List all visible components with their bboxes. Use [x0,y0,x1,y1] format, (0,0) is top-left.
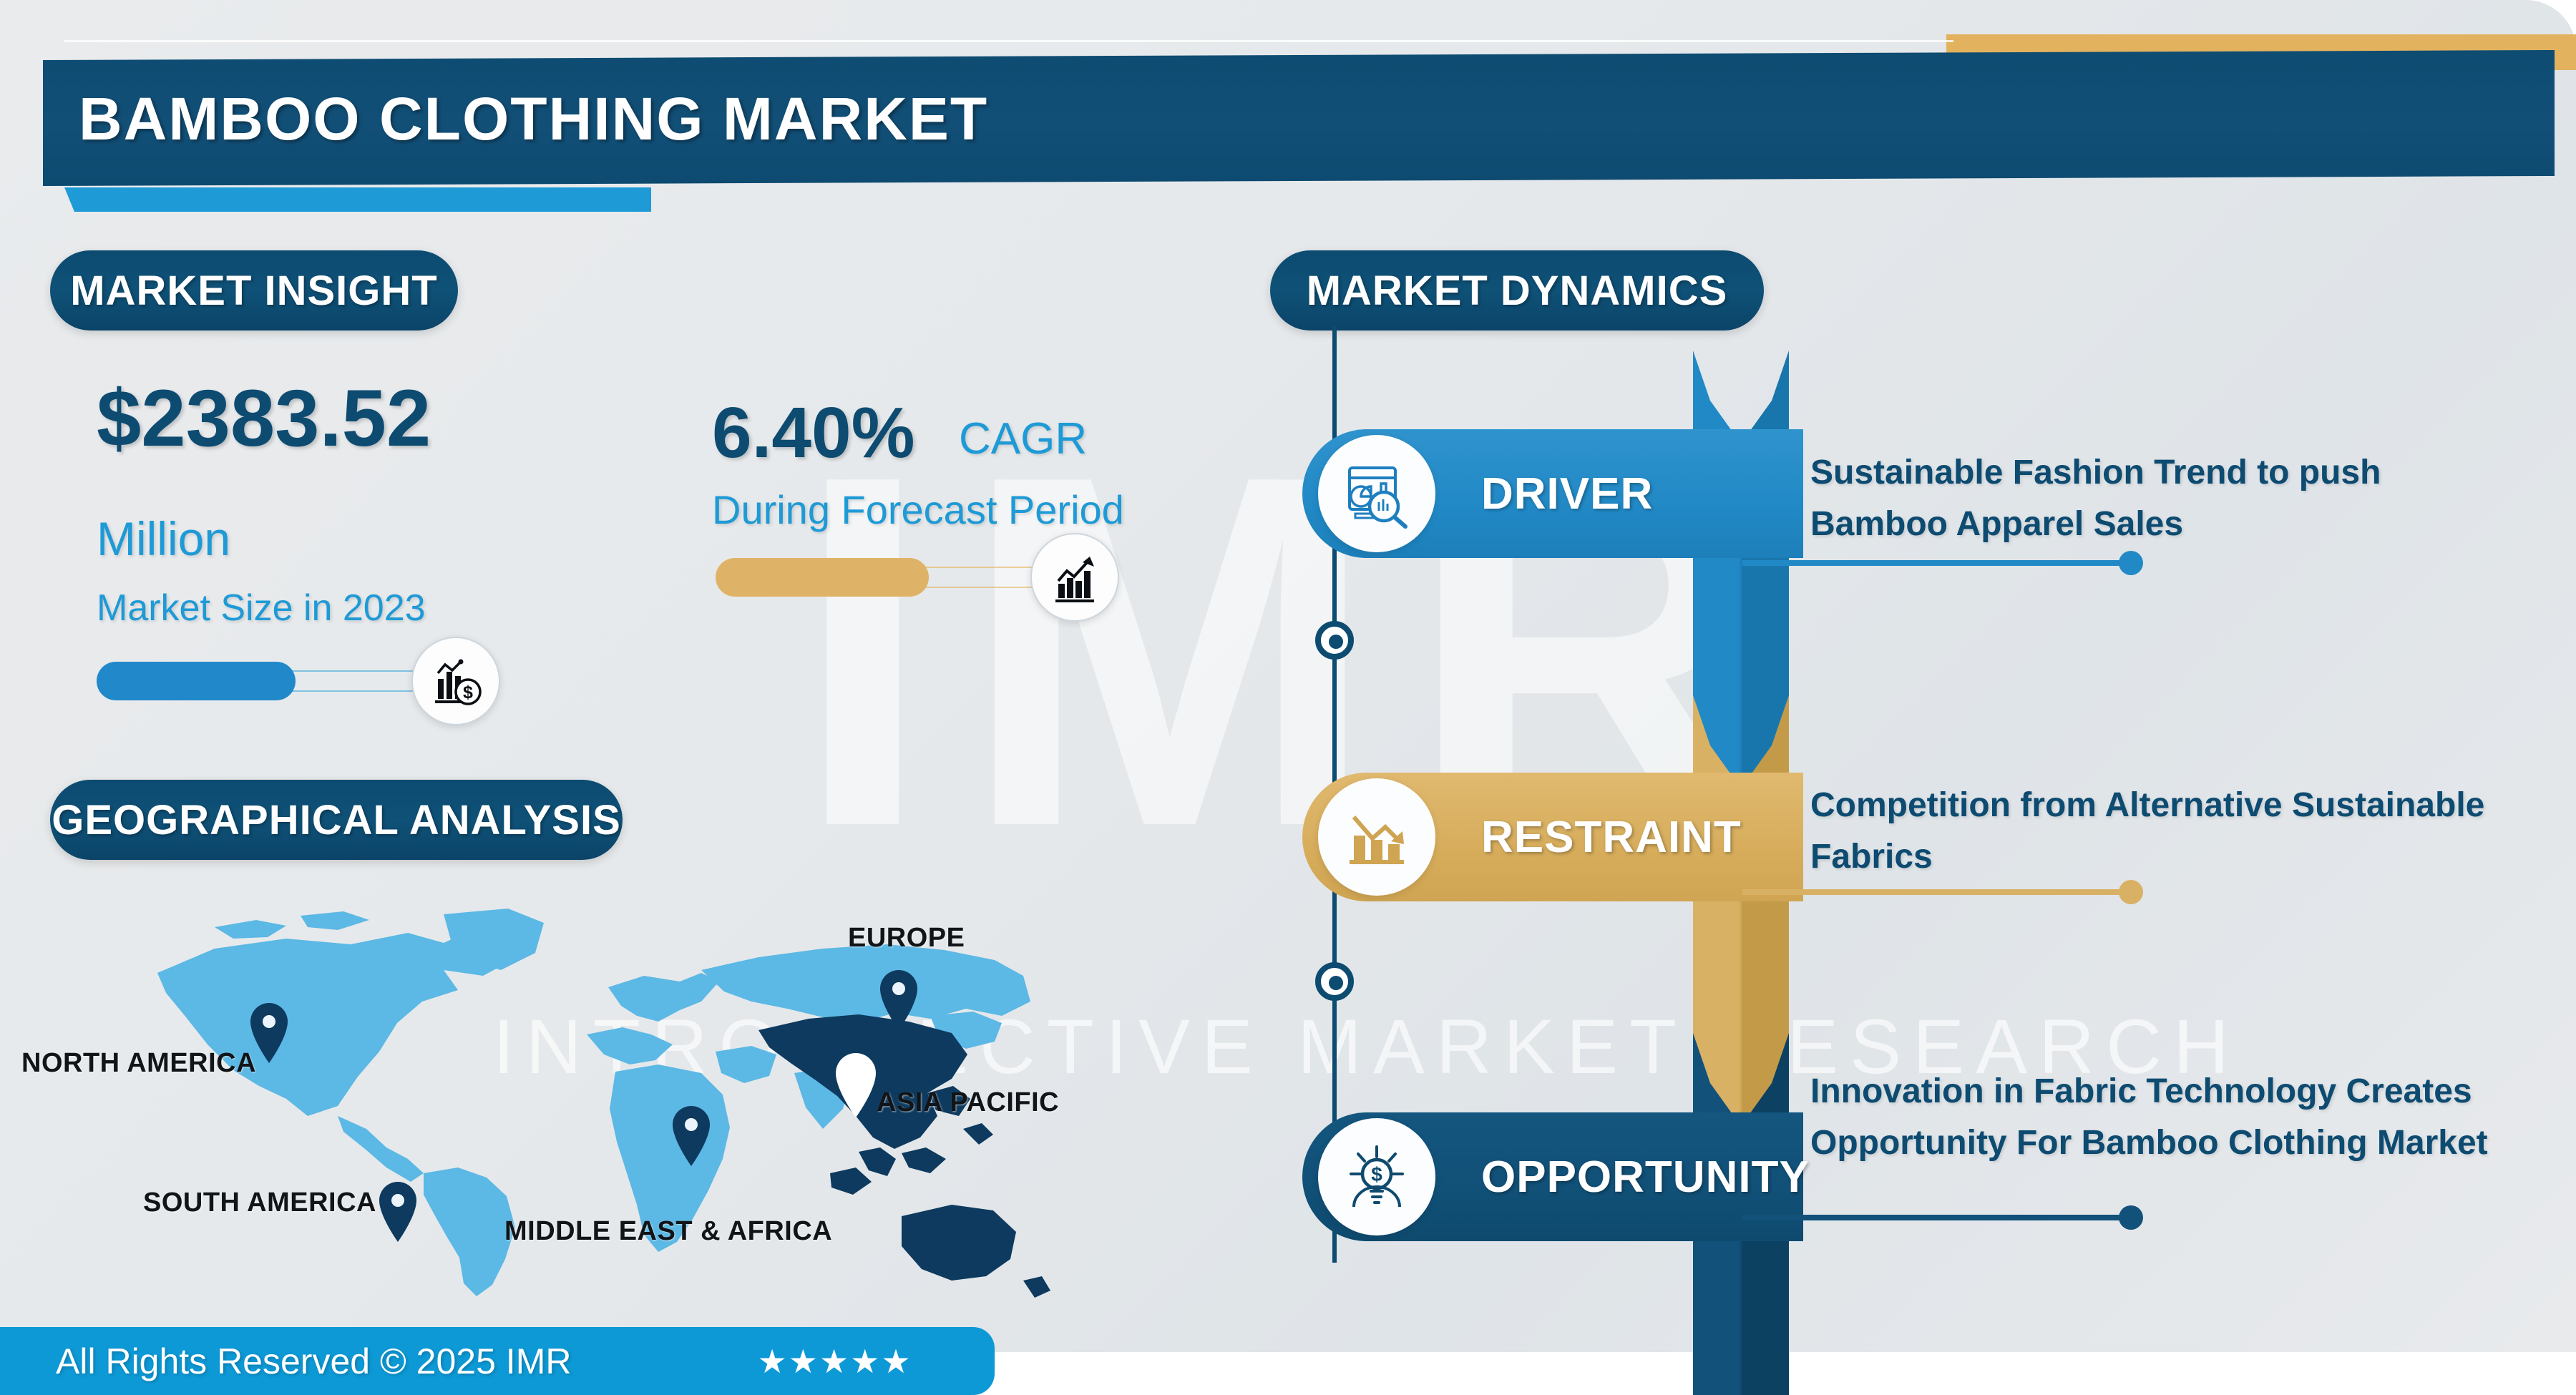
bar-chart-dollar-icon: $ [411,637,500,725]
opportunity-leader-dot [2119,1205,2143,1230]
dynamics-node-marker [1315,621,1354,660]
map-label-asia-pacific: ASIA PACIFIC [877,1087,1059,1118]
analytics-magnifier-icon [1318,435,1435,552]
copyright-text: All Rights Reserved © 2025 IMR [56,1341,571,1382]
dynamics-item-opportunity[interactable]: $ OPPORTUNITY [1302,1112,1803,1241]
cagr-value: 6.40% [712,392,915,474]
market-size-caption: Market Size in 2023 [97,587,426,630]
opportunity-description: Innovation in Fabric Technology Creates … [1810,1066,2526,1169]
dynamics-item-driver[interactable]: DRIVER [1302,429,1803,558]
market-size-unit: Million [97,511,230,566]
section-heading-geographical-analysis: GEOGRAPHICAL ANALYSIS [50,780,623,860]
market-size-progress-bar [97,662,440,700]
map-label-south-america: SOUTH AMERICA [143,1188,376,1218]
dynamics-item-restraint[interactable]: RESTRAINT [1302,773,1803,901]
driver-leader-dot [2119,551,2143,575]
dynamics-node-marker [1315,962,1354,1001]
map-label-europe: EUROPE [848,923,965,954]
restraint-leader-line [1742,889,2136,895]
driver-description: Sustainable Fashion Trend to push Bamboo… [1810,447,2526,550]
footer-bar: All Rights Reserved © 2025 IMR ★★★★★ [0,1327,995,1395]
growth-chart-arrow-icon [1030,533,1119,622]
section-heading-market-insight: MARKET INSIGHT [50,250,458,331]
market-size-value: $2383.52 [97,372,431,464]
section-heading-market-dynamics: MARKET DYNAMICS [1270,250,1764,331]
header-thin-line [64,40,1953,42]
infographic-canvas: IMR INTROSPECTIVE MARKET RESEARCH BAMBOO… [0,0,2576,1395]
declining-bar-chart-icon [1318,778,1435,896]
opportunity-leader-line [1742,1215,2136,1220]
map-label-north-america: NORTH AMERICA [21,1048,256,1079]
restraint-label: RESTRAINT [1481,773,1742,901]
restraint-leader-dot [2119,880,2143,904]
cagr-progress-bar [716,558,1059,597]
market-insight-heading-label: MARKET INSIGHT [70,267,437,315]
page-title: BAMBOO CLOTHING MARKET [79,84,988,154]
progress-fill [97,662,296,700]
market-dynamics-heading-label: MARKET DYNAMICS [1307,267,1728,315]
driver-label: DRIVER [1481,429,1653,558]
svg-text:$: $ [1371,1163,1382,1185]
svg-text:$: $ [463,682,473,703]
progress-fill [716,558,929,597]
title-underline-accent [64,187,651,212]
cagr-label: CAGR [959,413,1087,464]
lightbulb-dollar-icon: $ [1318,1118,1435,1235]
restraint-description: Competition from Alternative Sustainable… [1810,780,2526,883]
driver-leader-line [1742,560,2136,566]
geographical-analysis-heading-label: GEOGRAPHICAL ANALYSIS [52,796,621,844]
rating-stars: ★★★★★ [757,1342,912,1381]
opportunity-label: OPPORTUNITY [1481,1112,1810,1241]
cagr-caption: During Forecast Period [712,486,1124,533]
map-label-middle-east-africa: MIDDLE EAST & AFRICA [504,1216,832,1247]
